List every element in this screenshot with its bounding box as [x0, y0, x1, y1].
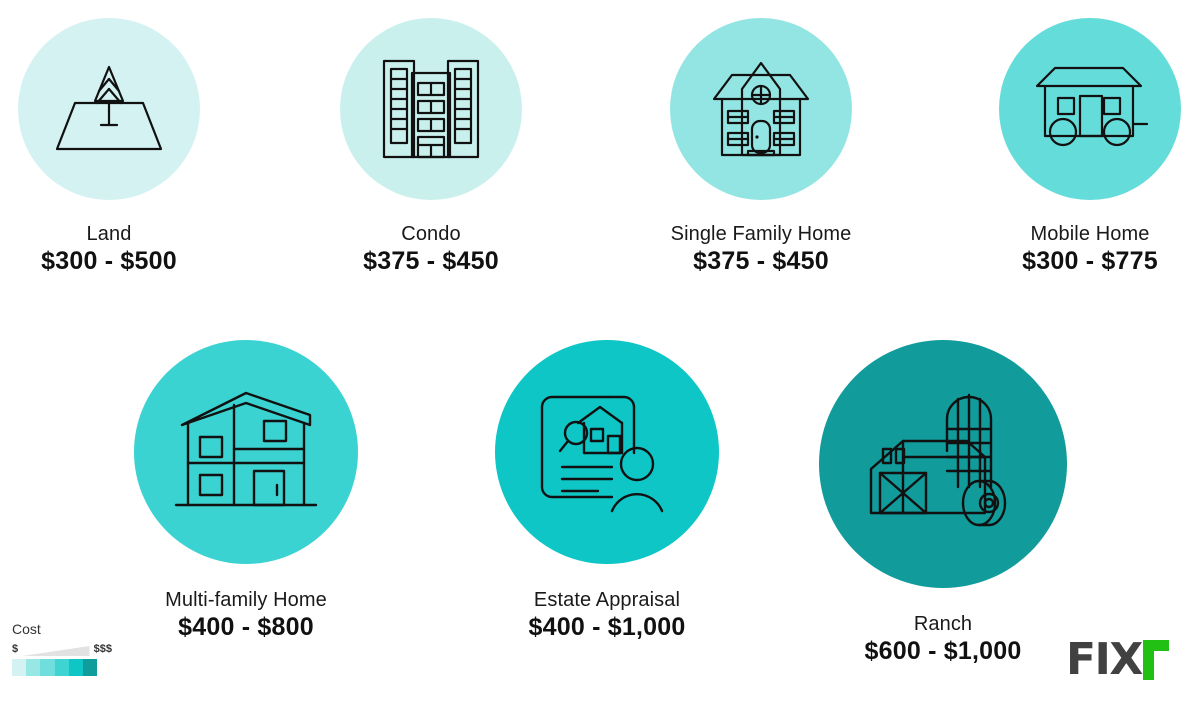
cost-swatch-4: [55, 659, 69, 676]
item-text-single-family: Single Family Home $375 - $450: [671, 222, 852, 276]
item-text-condo: Condo $375 - $450: [363, 222, 499, 276]
item-price: $400 - $1,000: [529, 612, 686, 642]
item-card-multifamily: Multi-family Home $400 - $800: [134, 340, 358, 642]
item-label: Multi-family Home: [165, 588, 327, 612]
item-label: Single Family Home: [671, 222, 852, 246]
item-label: Land: [41, 222, 177, 246]
ranch-barn-silo-icon: [867, 391, 1019, 537]
item-card-land: Land $300 - $500: [9, 18, 209, 276]
cost-legend-title: Cost: [12, 621, 112, 637]
icon-circle-ranch: [819, 340, 1067, 588]
icon-circle-land: [18, 18, 200, 200]
item-price: $300 - $775: [1022, 246, 1158, 276]
item-label: Mobile Home: [1022, 222, 1158, 246]
icon-circle-single-family: [670, 18, 852, 200]
item-text-land: Land $300 - $500: [41, 222, 177, 276]
cost-swatch-2: [26, 659, 40, 676]
item-text-multifamily: Multi-family Home $400 - $800: [165, 588, 327, 642]
item-card-ranch: Ranch $600 - $1,000: [819, 340, 1067, 666]
cost-legend-scale: $ $$$: [12, 642, 112, 656]
multi-family-house-icon: [172, 385, 320, 519]
cost-swatch-3: [40, 659, 54, 676]
cost-legend-swatch-bar: [12, 659, 97, 676]
cost-swatch-6: [83, 659, 97, 676]
single-family-house-icon: [702, 55, 820, 163]
icon-circle-mobile: [999, 18, 1181, 200]
item-card-condo: Condo $375 - $450: [331, 18, 531, 276]
cost-wedge-icon: [22, 644, 90, 655]
cost-legend-max-label: $$$: [94, 643, 112, 655]
item-card-single-family: Single Family Home $375 - $450: [655, 18, 867, 276]
mobile-home-icon: [1031, 66, 1149, 152]
fixr-logo: FIX: [1066, 640, 1169, 685]
item-text-estate: Estate Appraisal $400 - $1,000: [529, 588, 686, 642]
item-card-mobile: Mobile Home $300 - $775: [999, 18, 1181, 276]
cost-swatch-5: [69, 659, 83, 676]
icon-circle-estate: [495, 340, 719, 564]
fixr-logo-text: FIX: [1066, 640, 1142, 680]
item-price: $300 - $500: [41, 246, 177, 276]
cost-swatch-1: [12, 659, 26, 676]
item-label: Ranch: [865, 612, 1022, 636]
item-text-mobile: Mobile Home $300 - $775: [1022, 222, 1158, 276]
item-price: $600 - $1,000: [865, 636, 1022, 666]
cost-legend: Cost $ $$$: [12, 621, 112, 676]
appraisal-document-icon: [536, 391, 678, 513]
condo-building-icon: [379, 57, 483, 161]
fixr-logo-r-mark: [1143, 640, 1169, 685]
item-price: $375 - $450: [363, 246, 499, 276]
item-price: $375 - $450: [671, 246, 852, 276]
infographic-canvas: Land $300 - $500: [0, 0, 1200, 701]
cost-legend-min-label: $: [12, 643, 18, 655]
icon-circle-condo: [340, 18, 522, 200]
item-price: $400 - $800: [165, 612, 327, 642]
item-label: Estate Appraisal: [529, 588, 686, 612]
item-label: Condo: [363, 222, 499, 246]
land-with-tree-icon: [49, 53, 169, 165]
item-text-ranch: Ranch $600 - $1,000: [865, 612, 1022, 666]
item-card-estate: Estate Appraisal $400 - $1,000: [495, 340, 719, 642]
icon-circle-multifamily: [134, 340, 358, 564]
